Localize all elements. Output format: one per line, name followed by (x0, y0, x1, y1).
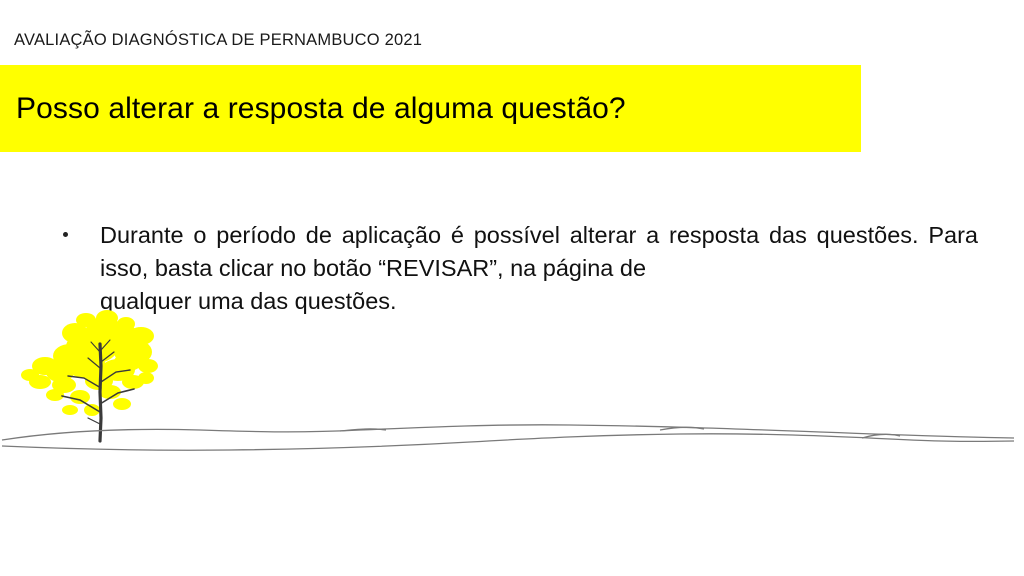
body-content: Durante o período de aplicação é possíve… (60, 219, 980, 318)
bullet-line-2: qualquer uma das questões. (100, 285, 978, 318)
bullet-line-1: Durante o período de aplicação é possíve… (100, 222, 978, 281)
tree-trunk (62, 340, 134, 441)
title-banner: Posso alterar a resposta de alguma quest… (0, 65, 861, 152)
list-item: Durante o período de aplicação é possíve… (60, 219, 980, 318)
bullet-paragraph: Durante o período de aplicação é possíve… (100, 219, 978, 318)
slide-eyebrow-label: AVALIAÇÃO DIAGNÓSTICA DE PERNAMBUCO 2021 (14, 30, 422, 50)
bullet-dot-icon (63, 232, 68, 237)
scenery-illustration (0, 300, 1024, 470)
slide-canvas: AVALIAÇÃO DIAGNÓSTICA DE PERNAMBUCO 2021… (0, 0, 1024, 576)
tree-foliage (21, 310, 158, 416)
slide-title: Posso alterar a resposta de alguma quest… (16, 91, 626, 127)
horizon-lines (2, 425, 1014, 450)
